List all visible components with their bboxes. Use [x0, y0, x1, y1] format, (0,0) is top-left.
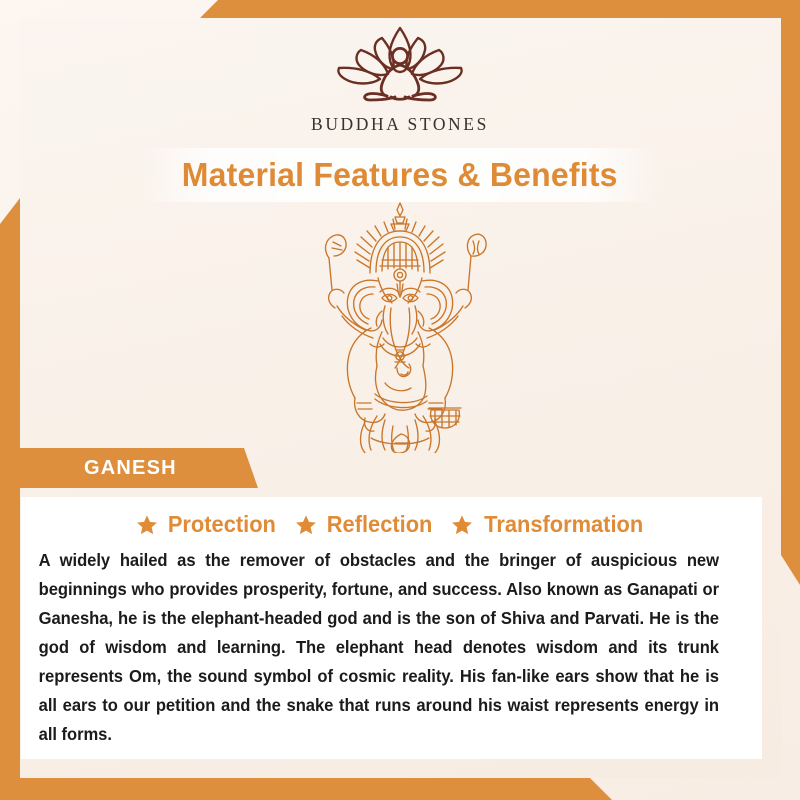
- benefit-label: Reflection: [326, 511, 432, 538]
- decorative-bar-left: [0, 198, 20, 800]
- brand-name: BUDDHA STONES: [311, 114, 489, 135]
- benefit-item-protection: Protection: [136, 511, 279, 538]
- star-icon: [295, 514, 317, 536]
- ganesha-line-art-illustration-icon: [285, 198, 515, 453]
- brand-logo: BUDDHA STONES: [0, 22, 800, 135]
- benefit-label: Protection: [168, 511, 276, 538]
- decorative-bar-bottom: [0, 778, 800, 800]
- benefit-item-transformation: Transformation: [451, 511, 647, 538]
- benefits-list: Protection Reflection Transformation: [29, 511, 754, 538]
- deity-name: GANESH: [84, 457, 177, 480]
- deity-illustration: [0, 198, 800, 448]
- benefit-item-reflection: Reflection: [295, 511, 435, 538]
- title-band: Material Features & Benefits: [140, 148, 660, 202]
- decorative-bar-top: [0, 0, 800, 18]
- deity-name-banner: GANESH: [0, 448, 258, 488]
- star-icon: [451, 514, 473, 536]
- page-title: Material Features & Benefits: [182, 156, 618, 194]
- lotus-meditation-logo-icon: [325, 22, 475, 110]
- poster-root: BUDDHA STONES Material Features & Benefi…: [0, 0, 800, 800]
- description-text: A widely hailed as the remover of obstac…: [29, 546, 729, 749]
- content-card: Protection Reflection Transformation A w…: [21, 497, 762, 759]
- star-icon: [136, 514, 158, 536]
- benefit-label: Transformation: [484, 511, 643, 538]
- decorative-bar-right: [781, 0, 800, 585]
